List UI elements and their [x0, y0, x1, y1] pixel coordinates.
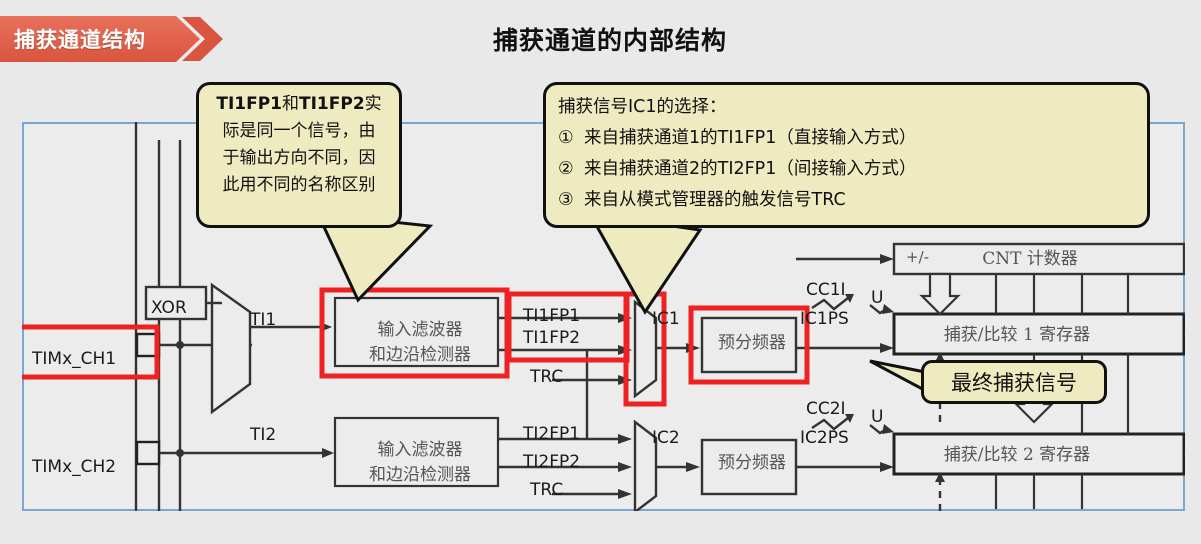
filter-block-2-text: 输入滤波器 和边沿检测器 [340, 435, 500, 485]
callout-ti1fp-note: TI1FP1和TI1FP2实 际是同一个信号，由 于输出方向不同，因 此用不同的… [196, 82, 402, 228]
callout-left-line-1: TI1FP1和TI1FP2实 [207, 91, 391, 118]
callout-right-item-3: ③来自从模式管理器的触发信号TRC [558, 185, 1137, 216]
hollow-arrow-cnt-ccr1 [922, 274, 958, 314]
interrupt-flag-cc1i: CC1I [806, 280, 846, 300]
xor-gate-label: XOR [151, 298, 187, 318]
callout-right-heading: 捕获信号IC1的选择： [558, 92, 1137, 123]
section-banner-label: 捕获通道结构 [14, 26, 204, 54]
prescaler-2-label: 预分频器 [706, 448, 798, 473]
callout-ic1-selection: 捕获信号IC1的选择： ①来自捕获通道1的TI1FP1（直接输入方式） ②来自捕… [543, 82, 1150, 228]
ccr1-label: 捕获/比较 1 寄存器 [900, 320, 1134, 345]
signal-label-ic2ps: IC2PS [800, 428, 849, 448]
signal-label-ti1fp2: TI1FP2 [523, 328, 580, 348]
signal-label-ic1: IC1 [652, 309, 680, 329]
signal-label-trc-2: TRC [530, 480, 563, 500]
pin-label-ch1: TIMx_CH1 [32, 349, 116, 369]
list-marker-3: ③ [558, 185, 584, 216]
ccr2-label: 捕获/比较 2 寄存器 [900, 440, 1134, 465]
list-text-2: 来自捕获通道2的TI2FP1（间接输入方式） [584, 159, 916, 179]
callout-left-line-2: 际是同一个信号，由 [207, 118, 391, 145]
signal-label-trc-1: TRC [530, 367, 563, 387]
junction-dot-2 [176, 449, 184, 457]
junction-dot-1 [176, 341, 184, 349]
callout-final-capture-signal: 最终捕获信号 [921, 360, 1107, 404]
pin-square-ch2 [137, 442, 159, 464]
arrow-ti2 [322, 448, 334, 458]
callout-left-line-4: 此用不同的名称区别 [207, 172, 391, 199]
signal-label-ic2: IC2 [652, 428, 680, 448]
signal-label-ti1fp1: TI1FP1 [523, 306, 580, 326]
event-label-u-2: U [871, 407, 883, 427]
pin-label-ch2: TIMx_CH2 [32, 457, 116, 477]
list-text-3: 来自从模式管理器的触发信号TRC [584, 190, 846, 210]
signal-label-ic1ps: IC1PS [800, 309, 849, 329]
list-marker-2: ② [558, 154, 584, 185]
event-label-u-1: U [871, 288, 883, 308]
signal-label-ti2fp2: TI2FP2 [523, 452, 580, 472]
callout-right-item-2: ②来自捕获通道2的TI2FP1（间接输入方式） [558, 154, 1137, 185]
callout-right-item-1: ①来自捕获通道1的TI1FP1（直接输入方式） [558, 123, 1137, 154]
signal-label-ti1: TI1 [250, 310, 276, 330]
filter-block-1-text: 输入滤波器 和边沿检测器 [340, 315, 500, 365]
interrupt-flag-cc2i: CC2I [806, 399, 846, 419]
counter-sign-label: +/- [906, 248, 929, 266]
prescaler-1-label: 预分频器 [706, 328, 798, 353]
signal-label-ti2fp1: TI2FP1 [523, 424, 580, 444]
page-title: 捕获通道的内部结构 [420, 26, 800, 56]
callout-left-line-3: 于输出方向不同，因 [207, 145, 391, 172]
list-marker-1: ① [558, 123, 584, 154]
list-text-1: 来自捕获通道1的TI1FP1（直接输入方式） [584, 128, 916, 148]
cnt-counter-label: CNT 计数器 [940, 244, 1120, 269]
signal-label-ti2: TI2 [250, 425, 276, 445]
